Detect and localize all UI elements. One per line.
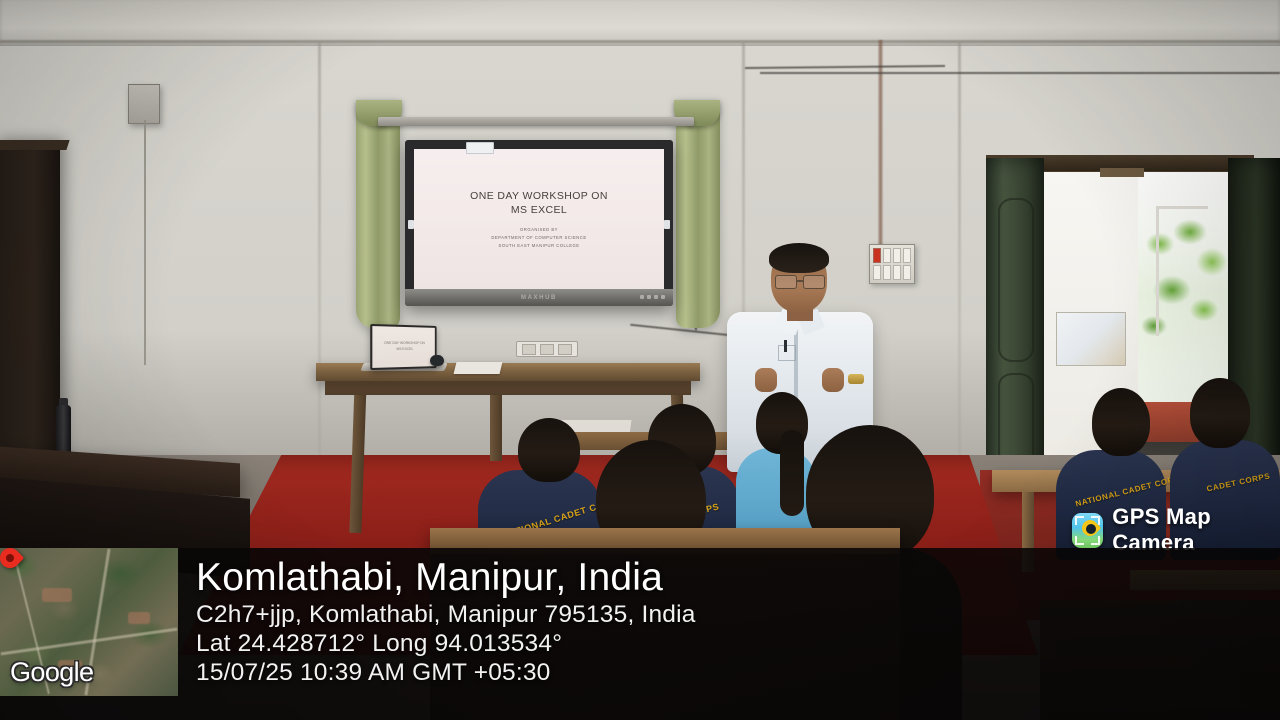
pen (784, 340, 787, 352)
power-switch[interactable] (883, 248, 891, 263)
capture-timestamp: 15/07/25 10:39 AM GMT +05:30 (196, 658, 1206, 687)
tree-foliage (1142, 214, 1228, 364)
viewfinder-corner-icon (1091, 536, 1100, 545)
speaker-cord (144, 120, 146, 365)
gps-text-block: Komlathabi, Manipur, India C2h7+jjp, Kom… (196, 556, 1206, 687)
student-head (518, 418, 580, 482)
slide-subtitle-2: DEPARTMENT OF COMPUTER SCIENCE (491, 234, 586, 242)
led-indicator (661, 295, 665, 299)
student-ponytail (780, 430, 804, 516)
student-head (1092, 388, 1150, 456)
eyeglasses-bridge (796, 280, 804, 282)
laptop-slide-text: ONE DAY WORKSHOP ON MS EXCEL (384, 341, 425, 353)
led-indicator (640, 295, 644, 299)
interactive-whiteboard: ONE DAY WORKSHOP ON MS EXCEL ORGANISED B… (405, 140, 673, 306)
board-sensor-bar (466, 142, 494, 154)
power-switch-red[interactable] (873, 248, 881, 263)
ceiling-wire (760, 72, 1280, 74)
map-building (128, 612, 150, 624)
power-switch[interactable] (903, 248, 911, 263)
dark-cupboard (0, 140, 60, 470)
power-switch[interactable] (873, 265, 881, 280)
led-indicator (647, 295, 651, 299)
google-watermark: Google (10, 657, 93, 688)
screenshot-canvas: ONE DAY WORKSHOP ON MS EXCEL ORGANISED B… (0, 0, 1280, 720)
board-bottom-rail: MAXHUB (405, 289, 673, 306)
wall-speaker (128, 84, 160, 124)
power-switch[interactable] (883, 265, 891, 280)
slide-title: ONE DAY WORKSHOP ON MS EXCEL (470, 189, 608, 217)
power-switch[interactable] (893, 265, 901, 280)
slide-subtitles: ORGANISED BY DEPARTMENT OF COMPUTER SCIE… (491, 226, 586, 249)
wall-switchboard[interactable] (869, 244, 915, 284)
paper-sheet (454, 362, 503, 374)
socket-outlet[interactable] (522, 344, 536, 355)
laptop-screen[interactable]: ONE DAY WORKSHOP ON MS EXCEL (370, 324, 436, 370)
wristwatch (848, 374, 864, 384)
power-switch[interactable] (903, 265, 911, 280)
door-groove (998, 198, 1034, 362)
board-side-button-left[interactable] (408, 220, 414, 229)
eyeglasses-right-lens (803, 275, 825, 289)
power-switch[interactable] (893, 248, 901, 263)
ceiling-edge-line (0, 40, 1280, 43)
cupboard-top (0, 140, 70, 150)
led-indicator (654, 295, 658, 299)
board-mount-rail (378, 117, 694, 126)
location-address: C2h7+jjp, Komlathabi, Manipur 795135, In… (196, 600, 1206, 629)
switch-row (873, 248, 911, 263)
corridor-conduit (1156, 206, 1208, 209)
board-side-button-right[interactable] (664, 220, 670, 229)
board-brand-label: MAXHUB (521, 295, 557, 301)
camera-lens-icon (1085, 523, 1097, 535)
eyeglasses-left-lens (775, 275, 797, 289)
viewfinder-corner-icon (1075, 536, 1084, 545)
map-building (42, 588, 72, 602)
switch-row (873, 265, 911, 280)
presentation-slide: ONE DAY WORKSHOP ON MS EXCEL ORGANISED B… (414, 149, 664, 289)
table-apron (325, 381, 691, 395)
window-curtain-left (356, 100, 400, 328)
location-title: Komlathabi, Manipur, India (196, 556, 1206, 600)
gps-map-camera-icon (1072, 513, 1103, 548)
window-curtain-right (676, 100, 720, 328)
presenter-hand-left (755, 368, 777, 392)
slide-subtitle-1: ORGANISED BY (491, 226, 586, 234)
presenter-hair (769, 243, 829, 273)
slide-subtitle-3: SOUTH EAST MANIPUR COLLEGE (491, 242, 586, 250)
socket-outlet[interactable] (540, 344, 554, 355)
computer-mouse[interactable] (430, 355, 444, 366)
map-thumbnail[interactable]: Google (0, 548, 178, 696)
location-coordinates: Lat 24.428712° Long 94.013534° (196, 629, 1206, 658)
door-closer (1100, 168, 1144, 177)
board-status-leds (640, 295, 666, 299)
presenter-hand-right (822, 368, 844, 392)
student-head (1190, 378, 1250, 448)
wall-power-socket[interactable] (516, 341, 578, 357)
ceiling-wire (745, 65, 945, 69)
shirt-pocket (778, 345, 796, 361)
corridor-conduit (1156, 206, 1159, 336)
notice-board (1056, 312, 1126, 366)
socket-outlet[interactable] (558, 344, 572, 355)
